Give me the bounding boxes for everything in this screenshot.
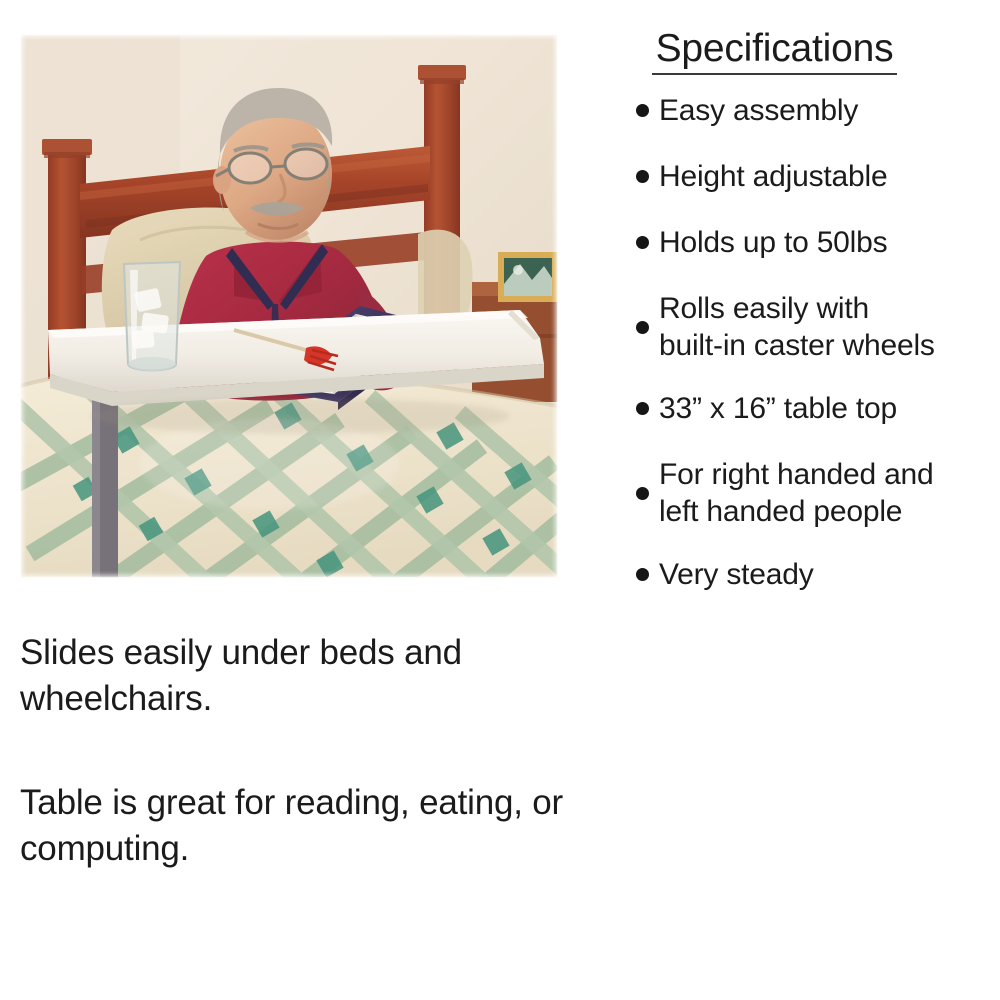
product-photo	[20, 34, 558, 578]
specifications-heading: Specifications	[652, 26, 897, 72]
caption-paragraph-1: Slides easily under beds and wheelchairs…	[20, 630, 580, 722]
spec-list-item: Holds up to 50lbs	[636, 224, 1000, 261]
spec-list-item: Easy assembly	[636, 92, 1000, 129]
specifications-heading-group: Specifications	[652, 26, 897, 75]
caption-paragraph-2: Table is great for reading, eating, or c…	[20, 780, 580, 872]
spec-item-label: Easy assembly	[659, 92, 858, 129]
bullet-icon	[636, 568, 649, 581]
spec-item-label: 33” x 16” table top	[659, 390, 897, 427]
bullet-icon	[636, 321, 649, 334]
specifications-heading-underline	[652, 73, 897, 75]
left-column: Slides easily under beds and wheelchairs…	[0, 0, 600, 1000]
bullet-icon	[636, 104, 649, 117]
product-listing-page: Slides easily under beds and wheelchairs…	[0, 0, 1000, 1000]
spec-item-label: Holds up to 50lbs	[659, 224, 887, 261]
right-column: Specifications Easy assembly Height adju…	[600, 0, 1000, 1000]
caption-block: Slides easily under beds and wheelchairs…	[20, 630, 580, 872]
spec-list-item: Very steady	[636, 556, 1000, 593]
spec-item-label: Height adjustable	[659, 158, 887, 195]
spec-list-item: Rolls easily with built-in caster wheels	[636, 290, 1000, 364]
bullet-icon	[636, 487, 649, 500]
specifications-list: Easy assembly Height adjustable Holds up…	[636, 92, 1000, 622]
spec-list-item: Height adjustable	[636, 158, 1000, 195]
bullet-icon	[636, 402, 649, 415]
spec-item-label: For right handed and left handed people	[659, 456, 934, 530]
spec-list-item: For right handed and left handed people	[636, 456, 1000, 530]
spec-item-label: Rolls easily with built-in caster wheels	[659, 290, 935, 364]
spec-item-label: Very steady	[659, 556, 814, 593]
bullet-icon	[636, 170, 649, 183]
spec-list-item: 33” x 16” table top	[636, 390, 1000, 427]
bullet-icon	[636, 236, 649, 249]
